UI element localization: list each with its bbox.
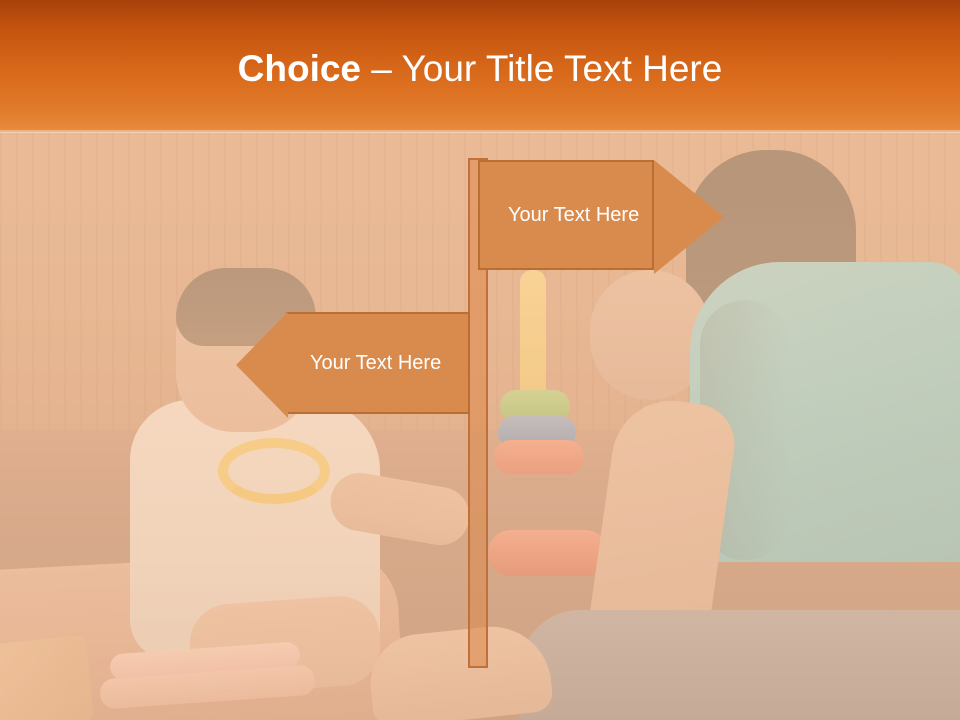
signpost-arrow-right[interactable]: Your Text Here bbox=[478, 160, 654, 270]
page-title-emphasis: Choice bbox=[238, 48, 361, 89]
signpost-arrow-right-label: Your Text Here bbox=[508, 204, 639, 227]
signpost-arrow-left[interactable]: Your Text Here bbox=[286, 312, 470, 414]
title-banner-edge bbox=[0, 130, 960, 133]
page-title-rest: – Your Title Text Here bbox=[361, 48, 722, 89]
signpost-arrow-right-head bbox=[654, 160, 724, 274]
signpost-arrow-left-head bbox=[236, 312, 288, 418]
page-title: Choice – Your Title Text Here bbox=[0, 46, 960, 92]
presentation-slide: Choice – Your Title Text Here Your Text … bbox=[0, 0, 960, 720]
title-banner: Choice – Your Title Text Here bbox=[0, 0, 960, 132]
signpost-arrow-left-label: Your Text Here bbox=[310, 352, 441, 375]
